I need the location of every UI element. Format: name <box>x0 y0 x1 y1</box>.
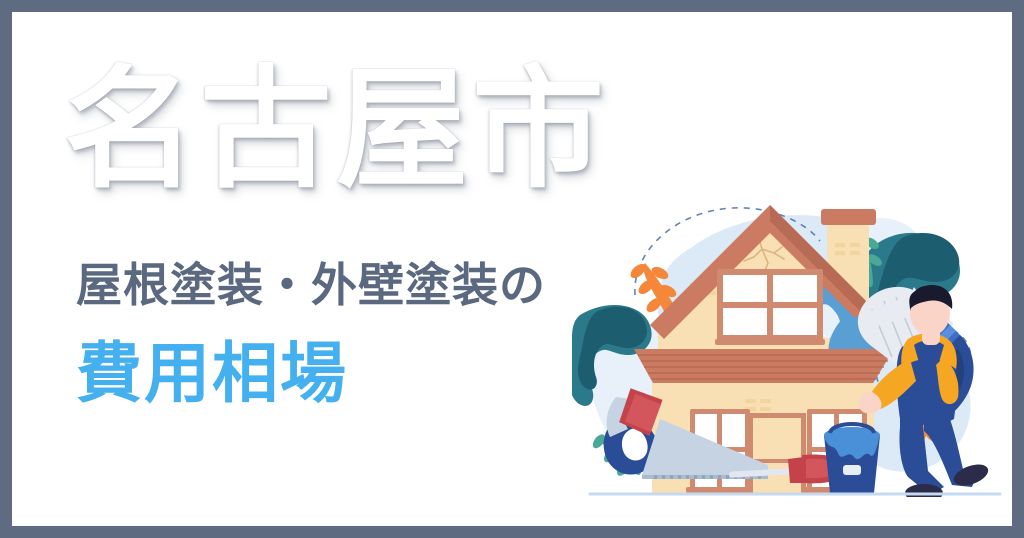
banner-root: 名古屋市 屋根塗装・外壁塗装の 費用相場 <box>0 0 1024 538</box>
main-roof-band <box>634 349 894 385</box>
inner-white-card: 名古屋市 屋根塗装・外壁塗装の 費用相場 <box>12 12 1012 526</box>
house-painting-illustration <box>572 187 1002 517</box>
paint-bucket <box>824 424 880 493</box>
subtitle: 屋根塗装・外壁塗装の <box>76 259 546 311</box>
price-headline: 費用相場 <box>76 336 348 410</box>
page-title: 名古屋市 <box>64 64 608 196</box>
attic-window <box>715 269 825 345</box>
